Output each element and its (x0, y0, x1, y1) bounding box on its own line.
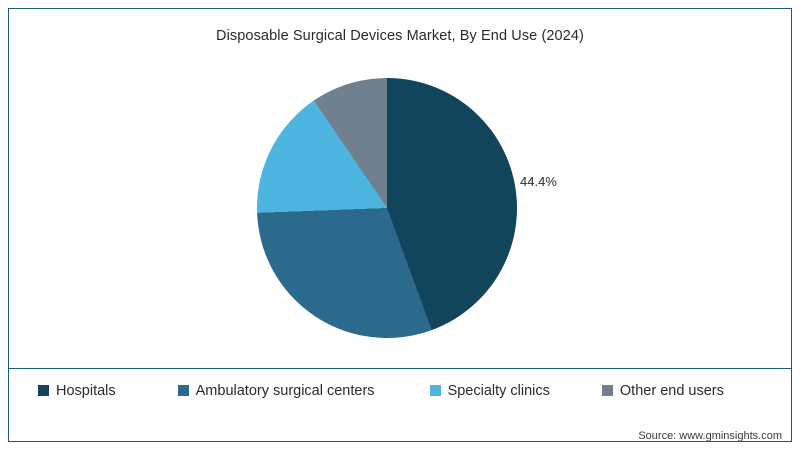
legend-item-ambulatory-surgical-centers[interactable]: Ambulatory surgical centers (178, 383, 375, 399)
legend-swatch-icon (38, 385, 49, 396)
legend-label: Specialty clinics (448, 383, 550, 399)
legend-label: Other end users (620, 383, 724, 399)
chart-legend: Hospitals Ambulatory surgical centers Sp… (8, 368, 792, 412)
legend-label: Ambulatory surgical centers (196, 383, 375, 399)
legend-label: Hospitals (56, 383, 116, 399)
chart-figure: Disposable Surgical Devices Market, By E… (0, 0, 800, 450)
legend-item-specialty-clinics[interactable]: Specialty clinics (430, 383, 550, 399)
pie-slices (257, 78, 517, 338)
page-title: Disposable Surgical Devices Market, By E… (0, 28, 800, 44)
legend-item-hospitals[interactable]: Hospitals (38, 383, 116, 399)
source-attribution: Source: www.gminsights.com (638, 430, 782, 442)
pie-chart (257, 78, 517, 338)
legend-swatch-icon (430, 385, 441, 396)
legend-swatch-icon (178, 385, 189, 396)
legend-item-other-end-users[interactable]: Other end users (602, 383, 724, 399)
legend-swatch-icon (602, 385, 613, 396)
slice-label-hospitals: 44.4% (520, 174, 557, 189)
